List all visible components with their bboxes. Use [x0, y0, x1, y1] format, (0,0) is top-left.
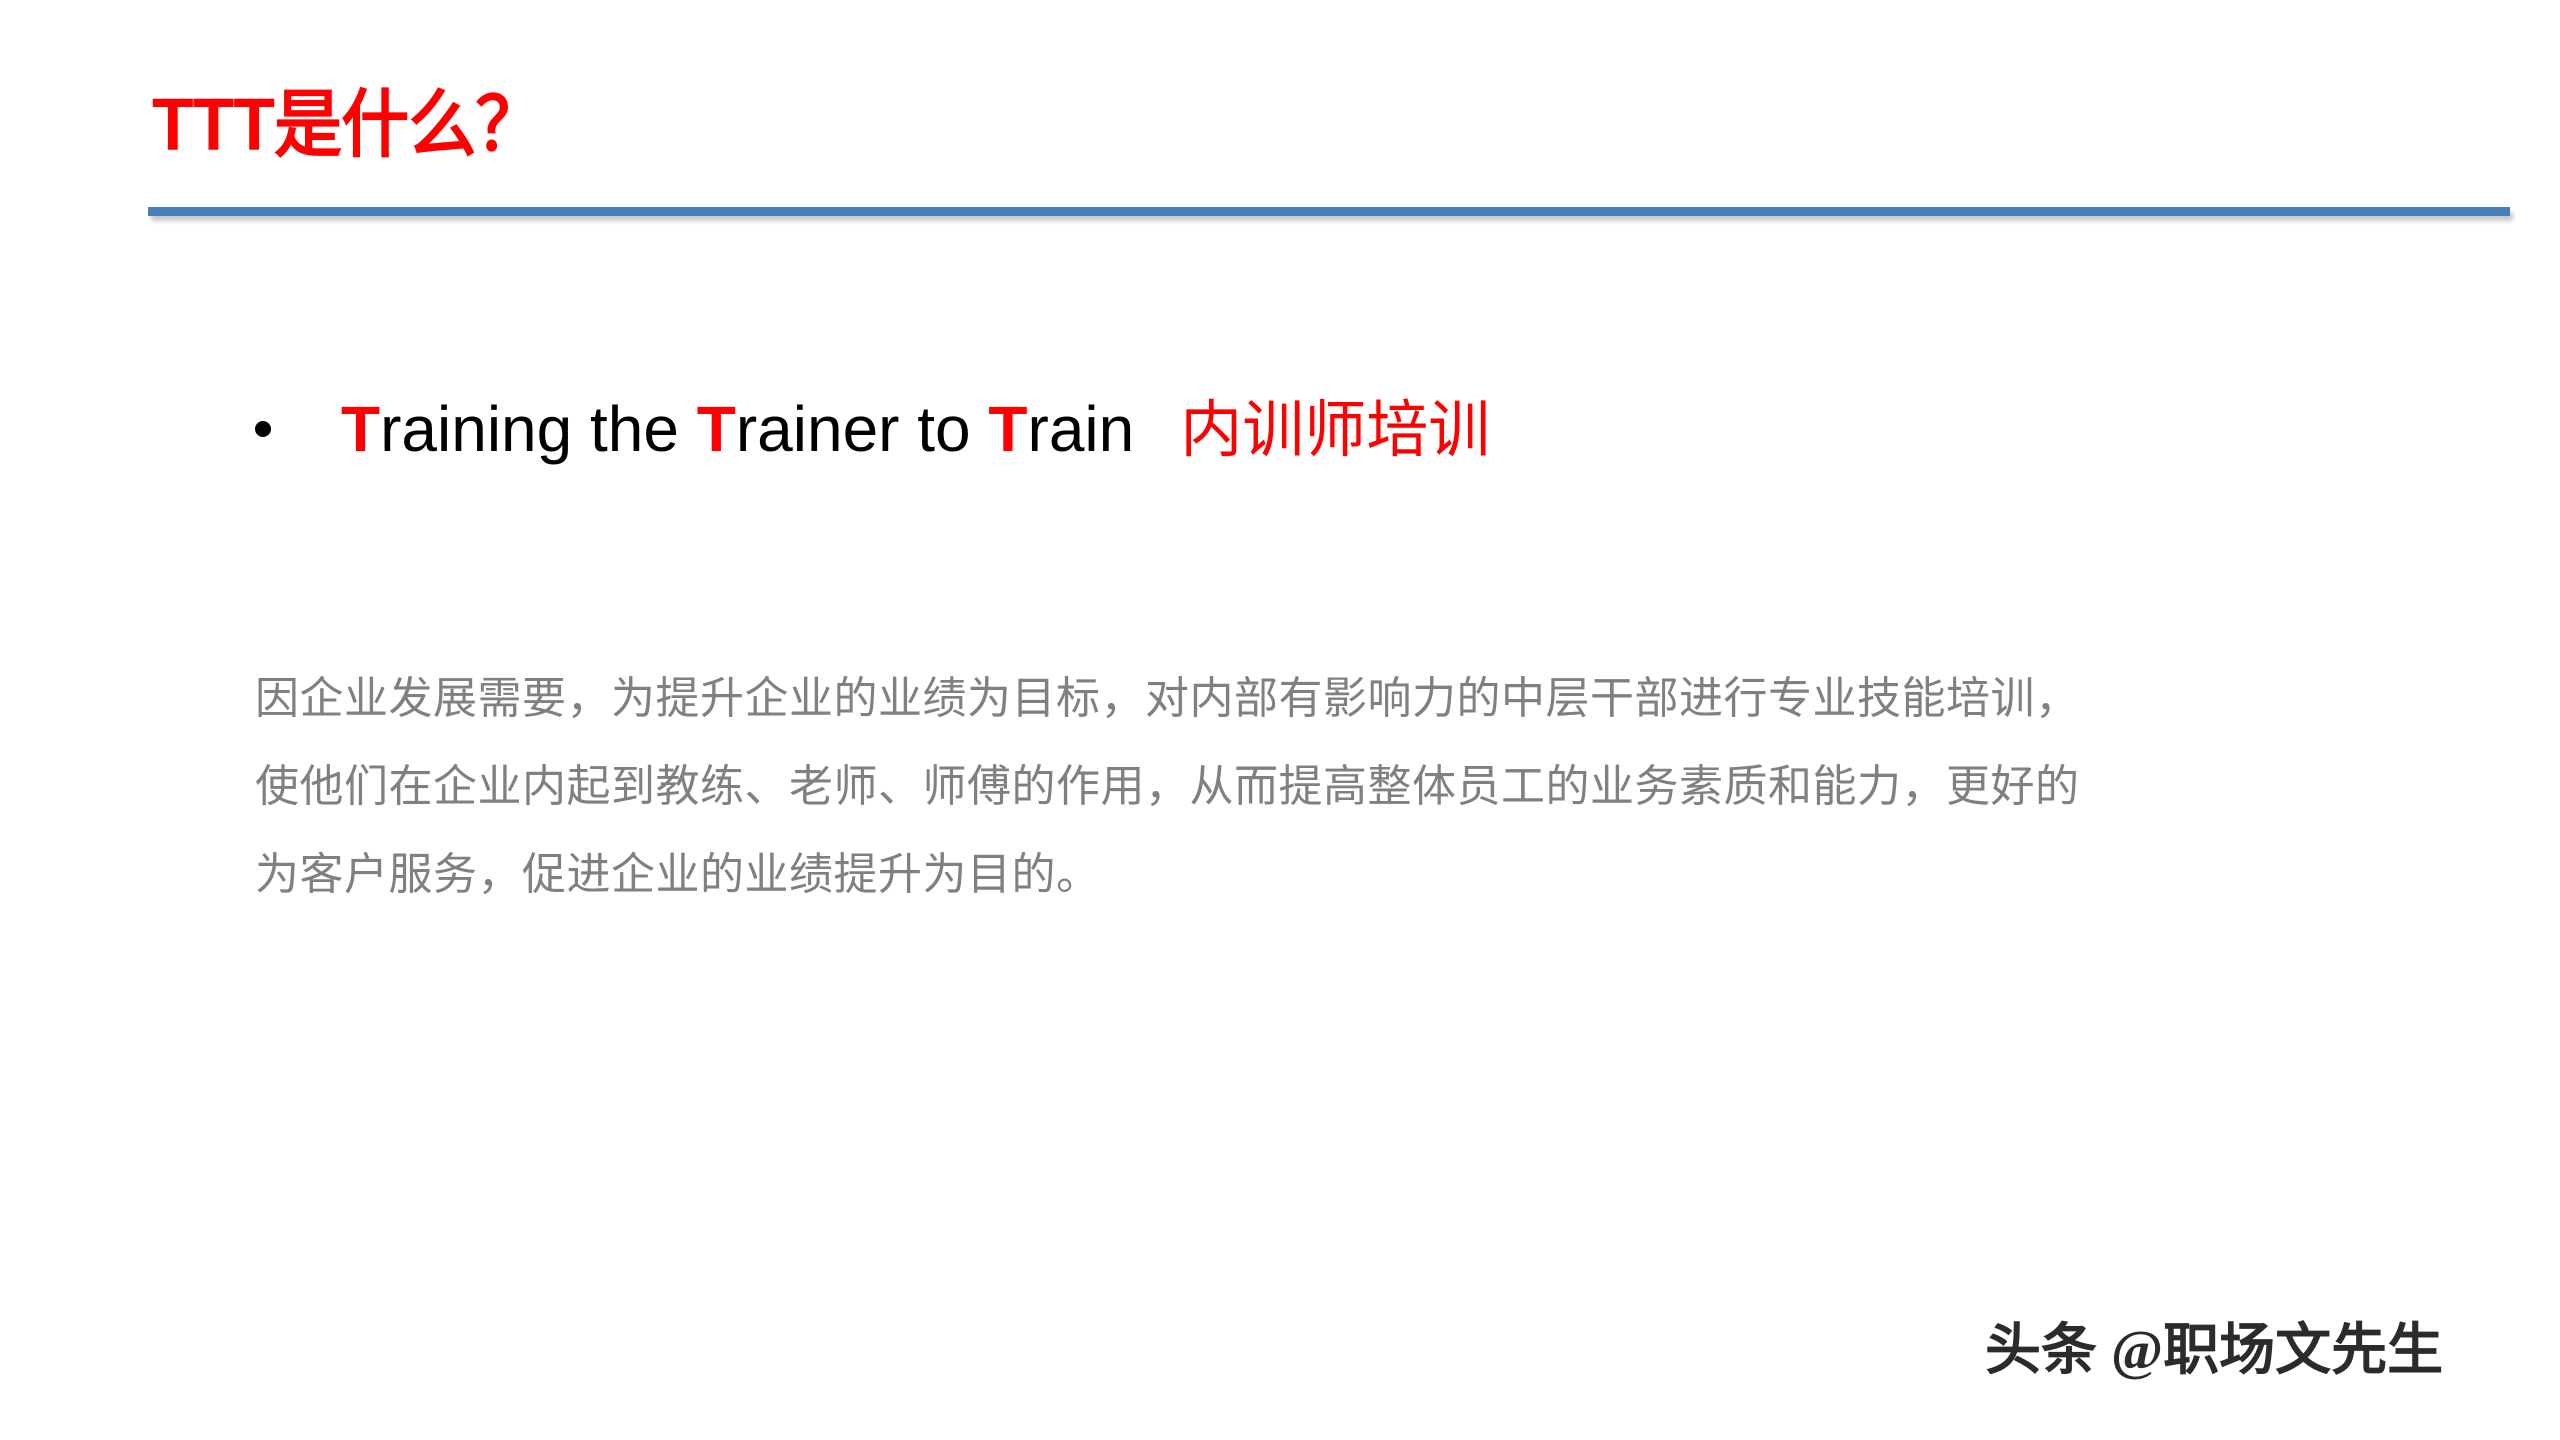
bullet-text-part3: rain — [1028, 393, 1135, 465]
paragraph-line: 使他们在企业内起到教练、老师、师傅的作用，从而提高整体员工的业务素质和能力，更好… — [255, 743, 2355, 831]
bullet-dot-icon — [255, 421, 271, 437]
bullet-highlight-t2: T — [697, 393, 736, 465]
bullet-chinese-label: 内训师培训 — [1180, 396, 1490, 465]
bullet-text-part2: rainer to — [736, 393, 989, 465]
bullet-highlight-t3: T — [988, 393, 1027, 465]
paragraph-line: 为客户服务，促进企业的业绩提升为目的。 — [255, 831, 2355, 919]
body-paragraph: 因企业发展需要，为提升企业的业绩为目标，对内部有影响力的中层干部进行专业技能培训… — [255, 655, 2355, 919]
paragraph-line: 因企业发展需要，为提升企业的业绩为目标，对内部有影响力的中层干部进行专业技能培训… — [255, 655, 2355, 743]
page-title: TTT是什么？ — [152, 88, 543, 162]
slide-canvas: TTT是什么？ Training the Trainer to Train内训师… — [0, 0, 2560, 1440]
bullet-list-item: Training the Trainer to Train内训师培训 — [255, 396, 1490, 463]
title-underline-rule — [148, 207, 2510, 216]
bullet-highlight-t1: T — [341, 393, 380, 465]
bullet-text-part1: raining the — [380, 393, 697, 465]
watermark-label: 头条 @职场文先生 — [1985, 1323, 2443, 1379]
bullet-item-text: Training the Trainer to Train内训师培训 — [341, 396, 1490, 463]
